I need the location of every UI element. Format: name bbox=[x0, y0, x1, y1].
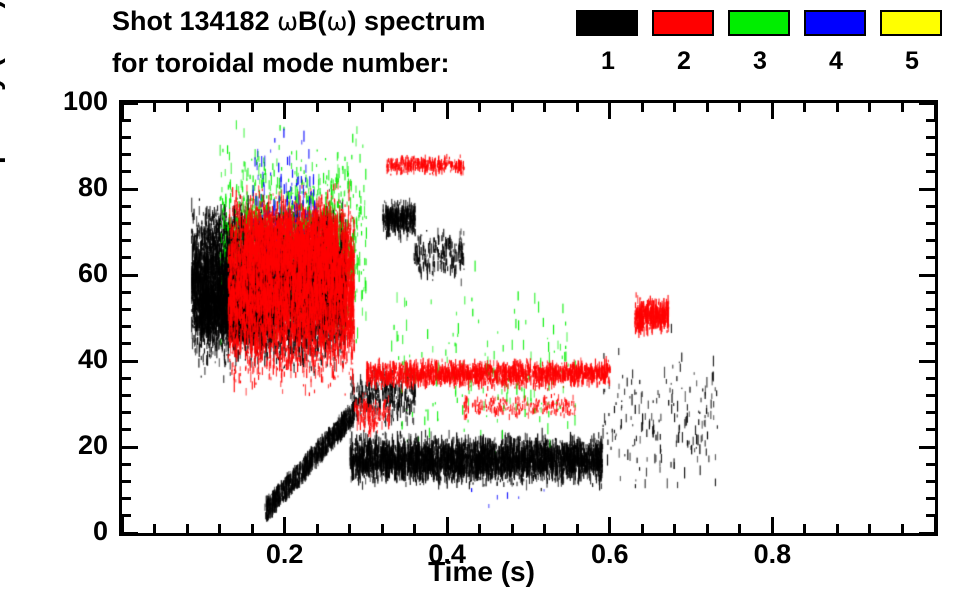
x-tick-top bbox=[836, 103, 839, 112]
y-tick-left bbox=[122, 274, 138, 277]
x-tick-top bbox=[803, 103, 806, 112]
x-tick-bottom bbox=[641, 524, 644, 533]
x-tick-top bbox=[706, 103, 709, 112]
title-suffix: ) spectrum bbox=[347, 6, 485, 36]
y-tick-right bbox=[926, 480, 935, 483]
y-tick-left bbox=[122, 394, 131, 397]
x-tick-top bbox=[641, 103, 644, 112]
legend-item-mode-2: 2 bbox=[652, 10, 716, 74]
y-tick-left bbox=[122, 446, 138, 449]
legend-swatch-mode-1 bbox=[576, 10, 638, 36]
y-tick-left bbox=[122, 428, 131, 431]
y-tick-right bbox=[926, 394, 935, 397]
x-tick-top bbox=[283, 103, 286, 119]
x-tick-bottom bbox=[901, 524, 904, 533]
y-tick-left bbox=[122, 102, 138, 105]
x-tick-top bbox=[511, 103, 514, 112]
x-tick-top bbox=[348, 103, 351, 112]
x-tick-bottom bbox=[543, 524, 546, 533]
x-tick-bottom bbox=[738, 524, 741, 533]
title-prefix: Shot 134182 bbox=[112, 6, 277, 36]
y-tick-right bbox=[926, 325, 935, 328]
y-tick-left bbox=[122, 188, 138, 191]
legend-swatch-mode-3 bbox=[728, 10, 790, 36]
x-tick-top bbox=[186, 103, 189, 112]
x-tick-top bbox=[381, 103, 384, 112]
omega-symbol-2: ω bbox=[327, 7, 348, 36]
x-tick-bottom bbox=[836, 524, 839, 533]
y-tick-left bbox=[122, 222, 131, 225]
spectrogram-canvas bbox=[122, 103, 935, 533]
y-axis-label: Frequency (kHz) bbox=[0, 0, 6, 238]
legend-label-mode-5: 5 bbox=[880, 48, 944, 74]
axis-line-left bbox=[119, 100, 122, 536]
x-tick-bottom bbox=[283, 517, 286, 533]
y-tick-left bbox=[122, 480, 131, 483]
title-mid: B( bbox=[298, 6, 327, 36]
y-tick-right bbox=[926, 411, 935, 414]
y-tick-right bbox=[919, 446, 935, 449]
y-tick-right bbox=[926, 119, 935, 122]
y-tick-left bbox=[122, 411, 131, 414]
x-tick-bottom bbox=[413, 524, 416, 533]
y-tick-right bbox=[926, 222, 935, 225]
x-tick-bottom bbox=[478, 524, 481, 533]
legend-label-mode-4: 4 bbox=[804, 48, 868, 74]
y-tick-left bbox=[122, 342, 131, 345]
x-tick-bottom bbox=[706, 524, 709, 533]
x-tick-top bbox=[121, 103, 124, 119]
x-tick-bottom bbox=[446, 517, 449, 533]
y-tick-right bbox=[919, 102, 935, 105]
x-tick-bottom bbox=[673, 524, 676, 533]
y-tick-right bbox=[926, 170, 935, 173]
y-tick-left bbox=[122, 170, 131, 173]
y-tick-right bbox=[926, 342, 935, 345]
y-tick-left bbox=[122, 377, 131, 380]
axis-line-top bbox=[122, 100, 935, 103]
x-tick-bottom bbox=[186, 524, 189, 533]
x-tick-bottom bbox=[251, 524, 254, 533]
axis-line-right bbox=[935, 100, 938, 536]
y-tick-label-20: 20 bbox=[0, 430, 108, 461]
y-tick-right bbox=[926, 514, 935, 517]
y-tick-right bbox=[919, 360, 935, 363]
x-tick-bottom bbox=[608, 517, 611, 533]
y-tick-left bbox=[122, 325, 131, 328]
y-tick-left bbox=[122, 532, 138, 535]
y-tick-left bbox=[122, 360, 138, 363]
legend-item-mode-5: 5 bbox=[880, 10, 944, 74]
x-tick-top bbox=[901, 103, 904, 112]
x-tick-bottom bbox=[218, 524, 221, 533]
x-tick-top bbox=[153, 103, 156, 112]
y-tick-right bbox=[926, 463, 935, 466]
y-tick-left bbox=[122, 153, 131, 156]
y-tick-label-0: 0 bbox=[0, 516, 108, 547]
omega-symbol-1: ω bbox=[277, 7, 298, 36]
y-tick-left bbox=[122, 136, 131, 139]
y-tick-left bbox=[122, 308, 131, 311]
y-tick-right bbox=[926, 153, 935, 156]
y-tick-left bbox=[122, 239, 131, 242]
y-tick-right bbox=[926, 291, 935, 294]
legend-label-mode-3: 3 bbox=[728, 48, 792, 74]
legend-item-mode-1: 1 bbox=[576, 10, 640, 74]
spectrogram-figure: Shot 134182 ωB(ω) spectrum for toroidal … bbox=[0, 0, 963, 615]
x-tick-bottom bbox=[316, 524, 319, 533]
x-tick-top bbox=[868, 103, 871, 112]
page-title: Shot 134182 ωB(ω) spectrum bbox=[112, 6, 486, 37]
legend-swatch-mode-2 bbox=[652, 10, 714, 36]
y-tick-left bbox=[122, 119, 131, 122]
x-tick-top bbox=[738, 103, 741, 112]
y-tick-right bbox=[926, 205, 935, 208]
x-tick-top bbox=[934, 103, 937, 119]
legend-label-mode-1: 1 bbox=[576, 48, 640, 74]
x-tick-bottom bbox=[348, 524, 351, 533]
y-tick-left bbox=[122, 514, 131, 517]
legend: 12345 bbox=[576, 10, 956, 90]
x-tick-top bbox=[413, 103, 416, 112]
y-tick-left bbox=[122, 497, 131, 500]
x-tick-top bbox=[218, 103, 221, 112]
x-tick-top bbox=[673, 103, 676, 112]
legend-label-mode-2: 2 bbox=[652, 48, 716, 74]
legend-item-mode-4: 4 bbox=[804, 10, 868, 74]
y-tick-right bbox=[926, 497, 935, 500]
x-axis-label: Time (s) bbox=[0, 556, 963, 588]
x-tick-bottom bbox=[771, 517, 774, 533]
y-tick-right bbox=[919, 188, 935, 191]
plot-area bbox=[122, 103, 935, 533]
y-tick-right bbox=[919, 532, 935, 535]
legend-swatch-mode-5 bbox=[880, 10, 942, 36]
y-tick-label-40: 40 bbox=[0, 344, 108, 375]
x-tick-top bbox=[478, 103, 481, 112]
x-tick-top bbox=[771, 103, 774, 119]
x-tick-bottom bbox=[153, 524, 156, 533]
y-tick-right bbox=[926, 377, 935, 380]
x-tick-bottom bbox=[381, 524, 384, 533]
y-tick-label-60: 60 bbox=[0, 258, 108, 289]
x-tick-top bbox=[251, 103, 254, 112]
x-tick-top bbox=[576, 103, 579, 112]
x-tick-bottom bbox=[868, 524, 871, 533]
x-tick-bottom bbox=[803, 524, 806, 533]
y-tick-right bbox=[926, 239, 935, 242]
y-tick-right bbox=[926, 256, 935, 259]
x-tick-top bbox=[446, 103, 449, 119]
x-tick-top bbox=[608, 103, 611, 119]
axis-line-bottom bbox=[122, 533, 935, 536]
y-tick-left bbox=[122, 463, 131, 466]
y-tick-label-80: 80 bbox=[0, 172, 108, 203]
y-tick-right bbox=[926, 308, 935, 311]
y-tick-label-100: 100 bbox=[0, 86, 108, 117]
y-tick-right bbox=[926, 428, 935, 431]
y-tick-right bbox=[919, 274, 935, 277]
x-tick-top bbox=[316, 103, 319, 112]
y-tick-right bbox=[926, 136, 935, 139]
legend-swatch-mode-4 bbox=[804, 10, 866, 36]
x-tick-bottom bbox=[511, 524, 514, 533]
x-tick-bottom bbox=[576, 524, 579, 533]
x-tick-top bbox=[543, 103, 546, 112]
y-tick-left bbox=[122, 205, 131, 208]
legend-item-mode-3: 3 bbox=[728, 10, 792, 74]
y-tick-left bbox=[122, 291, 131, 294]
title-subline: for toroidal mode number: bbox=[112, 48, 450, 79]
y-tick-left bbox=[122, 256, 131, 259]
